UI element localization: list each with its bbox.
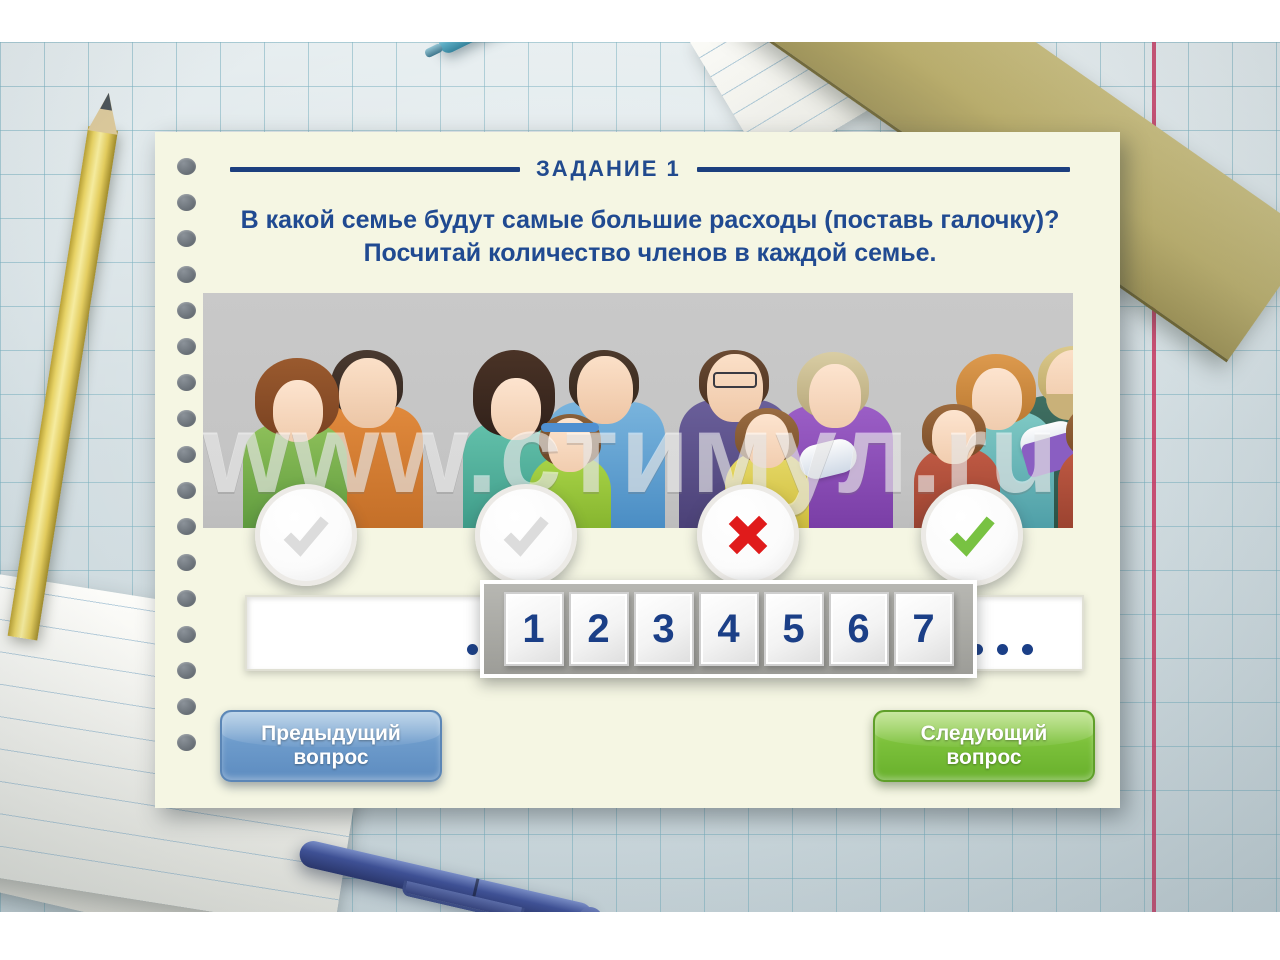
placeholder-dot <box>467 644 478 655</box>
binding-hole <box>177 482 196 499</box>
binding-hole <box>177 590 196 607</box>
answer-buttons-row <box>203 484 1073 580</box>
head <box>339 358 397 428</box>
placeholder-dot <box>1022 644 1033 655</box>
binding-hole <box>177 338 196 355</box>
binding-hole <box>177 230 196 247</box>
answer-option-4[interactable] <box>921 484 1023 586</box>
task-title-row: ЗАДАНИЕ 1 <box>230 154 1070 184</box>
prev-line-1: Предыдущий <box>261 722 401 746</box>
head <box>577 356 633 424</box>
head <box>491 378 541 440</box>
number-tile-3[interactable]: 3 <box>634 592 694 666</box>
next-question-label: Следующий вопрос <box>921 722 1048 770</box>
head <box>745 414 789 468</box>
answer-option-2[interactable] <box>475 484 577 586</box>
question-line-2: Посчитай количество членов в каждой семь… <box>215 237 1085 270</box>
head <box>809 364 861 428</box>
number-tile-5[interactable]: 5 <box>764 592 824 666</box>
spiral-binding-holes <box>177 158 203 788</box>
title-rule-right <box>697 167 1070 172</box>
top-white-band <box>0 0 1280 42</box>
number-tile-6[interactable]: 6 <box>829 592 889 666</box>
answer-option-1[interactable] <box>255 484 357 586</box>
binding-hole <box>177 266 196 283</box>
binding-hole <box>177 374 196 391</box>
placeholder-dot <box>997 644 1008 655</box>
number-tile-7[interactable]: 7 <box>894 592 954 666</box>
page-title: ЗАДАНИЕ 1 <box>536 156 681 182</box>
question-line-1: В какой семье будут самые большие расход… <box>215 204 1085 237</box>
title-rule-left <box>230 167 520 172</box>
head <box>273 380 323 442</box>
binding-hole <box>177 662 196 679</box>
previous-question-label: Предыдущий вопрос <box>261 722 401 770</box>
binding-hole <box>177 734 196 751</box>
question-text: В какой семье будут самые большие расход… <box>215 204 1085 270</box>
headband <box>541 423 599 432</box>
screen: ЗАДАНИЕ 1 В какой семье будут самые боль… <box>0 0 1280 960</box>
binding-hole <box>177 554 196 571</box>
check-icon <box>498 507 554 563</box>
next-line-1: Следующий <box>921 722 1048 746</box>
answer-option-3[interactable] <box>697 484 799 586</box>
previous-question-button[interactable]: Предыдущий вопрос <box>220 710 442 782</box>
head <box>932 410 976 464</box>
next-line-2: вопрос <box>921 746 1048 770</box>
binding-hole <box>177 410 196 427</box>
binding-hole <box>177 446 196 463</box>
binding-hole <box>177 626 196 643</box>
worksheet-card: ЗАДАНИЕ 1 В какой семье будут самые боль… <box>155 132 1120 808</box>
number-tile-1[interactable]: 1 <box>504 592 564 666</box>
check-icon <box>944 507 1000 563</box>
binding-hole <box>177 158 196 175</box>
binding-hole <box>177 518 196 535</box>
number-tile-4[interactable]: 4 <box>699 592 759 666</box>
prev-line-2: вопрос <box>261 746 401 770</box>
glasses-icon <box>713 372 757 388</box>
bottom-white-band <box>0 912 1280 960</box>
check-icon <box>278 507 334 563</box>
number-strip: 1 2 3 4 5 6 7 <box>480 580 977 678</box>
number-tile-2[interactable]: 2 <box>569 592 629 666</box>
cross-icon <box>720 507 776 563</box>
binding-hole <box>177 698 196 715</box>
binding-hole <box>177 302 196 319</box>
binding-hole <box>177 194 196 211</box>
next-question-button[interactable]: Следующий вопрос <box>873 710 1095 782</box>
